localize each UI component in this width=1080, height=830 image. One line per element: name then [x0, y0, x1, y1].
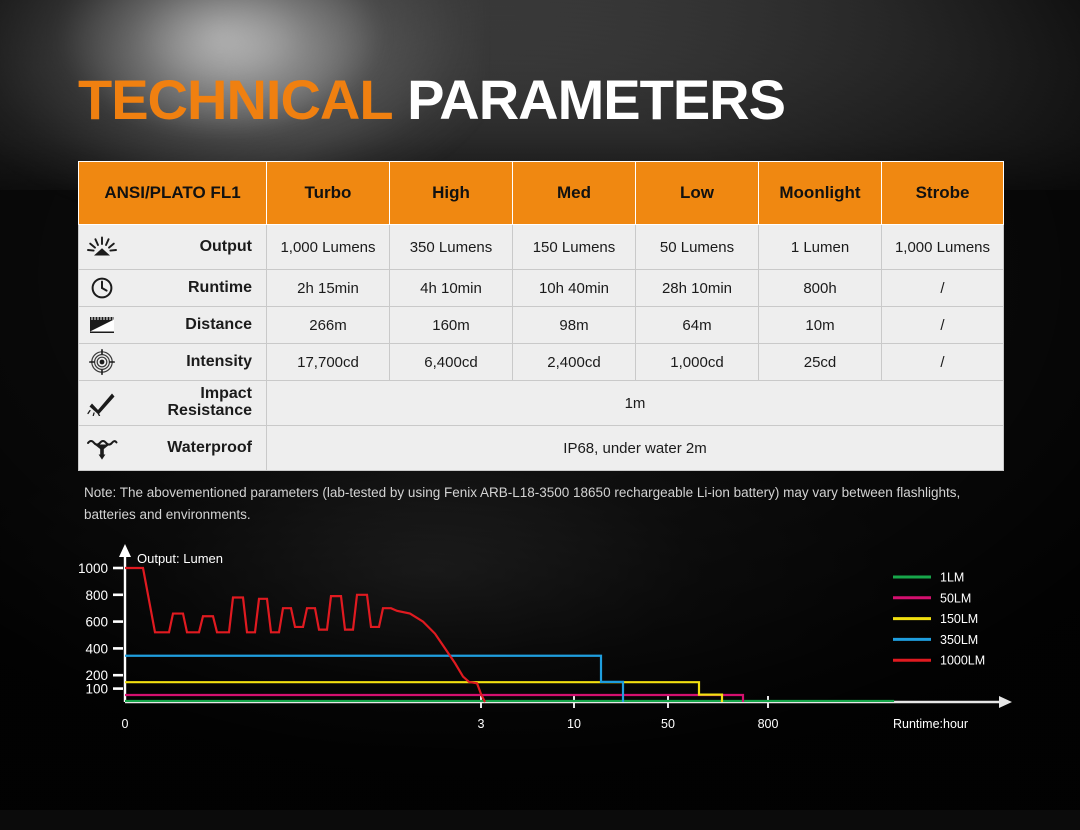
- legend-label-1000lm: 1000LM: [940, 654, 985, 668]
- cell-intensity-low: 1,000cd: [636, 344, 759, 381]
- x-tick-label: 10: [567, 717, 581, 731]
- cell-distance-med: 98m: [513, 307, 636, 344]
- row-label-runtime: Runtime: [79, 270, 267, 307]
- cell-intensity-moonlight: 25cd: [759, 344, 882, 381]
- y-tick-label: 400: [85, 641, 108, 656]
- cell-runtime-strobe: /: [882, 270, 1004, 307]
- row-label-output: Output: [79, 225, 267, 270]
- table-row: Distance 266m 160m 98m 64m 10m /: [79, 307, 1004, 344]
- specs-table-body: Output 1,000 Lumens 350 Lumens 150 Lumen…: [79, 225, 1004, 471]
- col-header-ansi: ANSI/PLATO FL1: [79, 162, 267, 225]
- cell-runtime-turbo: 2h 15min: [267, 270, 390, 307]
- page-title-main: PARAMETERS: [407, 68, 785, 131]
- clock-icon: [79, 276, 125, 300]
- impact-icon: [79, 390, 125, 416]
- x-axis-arrow: [999, 696, 1012, 708]
- table-row: Waterproof IP68, under water 2m: [79, 426, 1004, 471]
- target-icon: [79, 349, 125, 375]
- table-row: Runtime 2h 15min 4h 10min 10h 40min 28h …: [79, 270, 1004, 307]
- legend-label-350lm: 350LM: [940, 633, 978, 647]
- y-tick-label: 800: [85, 588, 108, 603]
- cell-distance-high: 160m: [390, 307, 513, 344]
- page-root: TECHNICAL PARAMETERS ANSI/PLATO FL1 Turb…: [0, 0, 1080, 810]
- y-tick-label: 1000: [78, 561, 108, 576]
- x-tick-label: 3: [478, 717, 485, 731]
- runtime-chart: Output: Lumen100080060040020010003105080…: [0, 536, 1080, 766]
- col-header-med: Med: [513, 162, 636, 225]
- table-header-row: ANSI/PLATO FL1 Turbo High Med Low Moonli…: [79, 162, 1004, 225]
- cell-distance-turbo: 266m: [267, 307, 390, 344]
- cell-distance-low: 64m: [636, 307, 759, 344]
- row-label-waterproof: Waterproof: [79, 426, 267, 471]
- cell-runtime-low: 28h 10min: [636, 270, 759, 307]
- col-header-high: High: [390, 162, 513, 225]
- col-header-turbo: Turbo: [267, 162, 390, 225]
- col-header-low: Low: [636, 162, 759, 225]
- row-label-text: Output: [125, 239, 252, 256]
- row-label-text: Waterproof: [125, 440, 252, 457]
- row-label-text: Distance: [125, 317, 252, 334]
- cell-distance-strobe: /: [882, 307, 1004, 344]
- beam-icon: [79, 314, 125, 336]
- x-axis-label: Runtime:hour: [893, 717, 968, 731]
- col-header-strobe: Strobe: [882, 162, 1004, 225]
- cell-output-low: 50 Lumens: [636, 225, 759, 270]
- y-tick-label: 100: [85, 682, 108, 697]
- cell-output-strobe: 1,000 Lumens: [882, 225, 1004, 270]
- x-tick-label: 0: [122, 717, 129, 731]
- legend-label-150lm: 150LM: [940, 612, 978, 626]
- cell-intensity-high: 6,400cd: [390, 344, 513, 381]
- chart-series-1lm: [125, 701, 893, 702]
- runtime-chart-svg: Output: Lumen100080060040020010003105080…: [0, 536, 1080, 766]
- cell-output-moonlight: 1 Lumen: [759, 225, 882, 270]
- row-label-text: Intensity: [125, 354, 252, 371]
- row-label-impact-resistance: ImpactResistance: [79, 381, 267, 426]
- waterdrop-icon: [79, 436, 125, 460]
- cell-runtime-high: 4h 10min: [390, 270, 513, 307]
- cell-distance-moonlight: 10m: [759, 307, 882, 344]
- y-axis-arrow: [119, 544, 131, 557]
- cell-intensity-med: 2,400cd: [513, 344, 636, 381]
- x-tick-label: 800: [758, 717, 779, 731]
- cell-intensity-turbo: 17,700cd: [267, 344, 390, 381]
- impact-label-line1: Impact: [200, 385, 252, 402]
- impact-label-line2: Resistance: [168, 402, 253, 419]
- cell-waterproof-value: IP68, under water 2m: [267, 426, 1004, 471]
- light-burst-icon: [79, 236, 125, 258]
- table-row: ImpactResistance 1m: [79, 381, 1004, 426]
- note-text: Note: The abovementioned parameters (lab…: [84, 482, 994, 527]
- row-label-intensity: Intensity: [79, 344, 267, 381]
- y-tick-label: 600: [85, 615, 108, 630]
- cell-runtime-moonlight: 800h: [759, 270, 882, 307]
- row-label-distance: Distance: [79, 307, 267, 344]
- legend-label-50lm: 50LM: [940, 591, 971, 605]
- specs-table-head: ANSI/PLATO FL1 Turbo High Med Low Moonli…: [79, 162, 1004, 225]
- table-row: Intensity 17,700cd 6,400cd 2,400cd 1,000…: [79, 344, 1004, 381]
- table-row: Output 1,000 Lumens 350 Lumens 150 Lumen…: [79, 225, 1004, 270]
- col-header-moonlight: Moonlight: [759, 162, 882, 225]
- cell-output-turbo: 1,000 Lumens: [267, 225, 390, 270]
- page-title-accent: TECHNICAL: [78, 68, 393, 131]
- x-tick-label: 50: [661, 717, 675, 731]
- cell-intensity-strobe: /: [882, 344, 1004, 381]
- cell-output-high: 350 Lumens: [390, 225, 513, 270]
- legend-label-1lm: 1LM: [940, 571, 964, 585]
- chart-series-150lm: [125, 682, 722, 702]
- row-label-text: Runtime: [125, 280, 252, 297]
- row-label-text: ImpactResistance: [125, 386, 252, 420]
- specs-table: ANSI/PLATO FL1 Turbo High Med Low Moonli…: [78, 161, 1004, 471]
- page-title: TECHNICAL PARAMETERS: [78, 72, 785, 128]
- y-axis-label: Output: Lumen: [137, 551, 223, 566]
- cell-impact-resistance-value: 1m: [267, 381, 1004, 426]
- cell-output-med: 150 Lumens: [513, 225, 636, 270]
- cell-runtime-med: 10h 40min: [513, 270, 636, 307]
